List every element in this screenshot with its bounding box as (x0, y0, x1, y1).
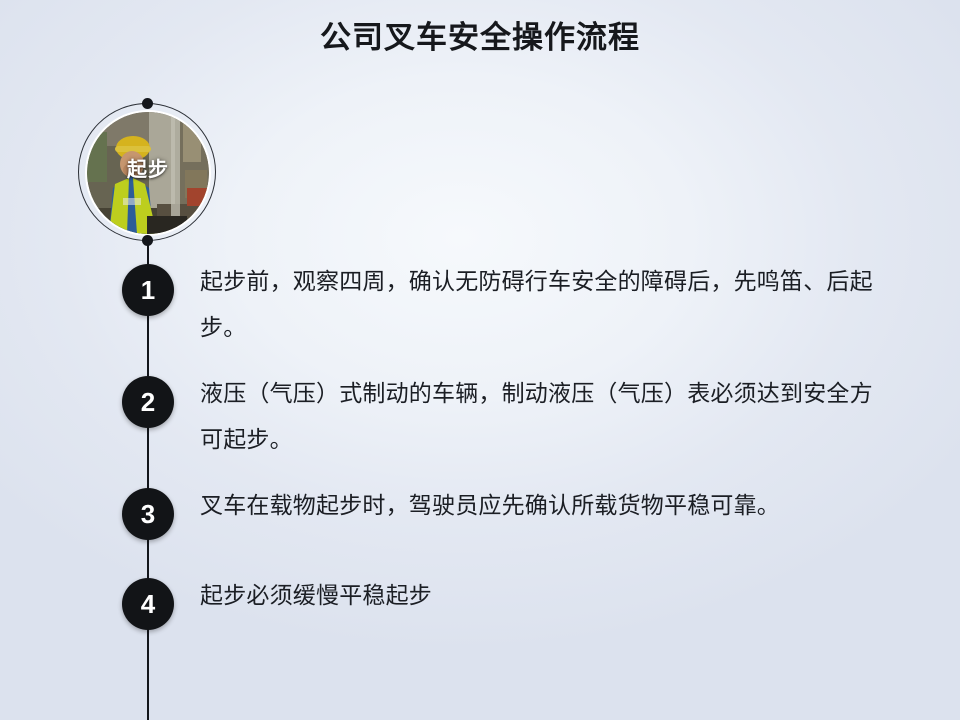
step-number-badge-4: 4 (122, 578, 174, 630)
stage-node[interactable]: 起步 (78, 103, 218, 243)
connector-dot-top (142, 98, 153, 109)
step-text-1: 起步前，观察四周，确认无防碍行车安全的障碍后，先鸣笛、后起步。 (200, 258, 890, 350)
step-number-badge-2: 2 (122, 376, 174, 428)
step-text-2: 液压（气压）式制动的车辆，制动液压（气压）表必须达到安全方可起步。 (200, 370, 890, 462)
slide-canvas: 公司叉车安全操作流程 (0, 0, 960, 720)
step-number-badge-1: 1 (122, 264, 174, 316)
step-text-4: 起步必须缓慢平稳起步 (200, 572, 890, 618)
step-text-3: 叉车在载物起步时，驾驶员应先确认所载货物平稳可靠。 (200, 482, 890, 528)
page-title: 公司叉车安全操作流程 (0, 18, 960, 58)
stage-label: 起步 (78, 153, 218, 182)
step-number-badge-3: 3 (122, 488, 174, 540)
